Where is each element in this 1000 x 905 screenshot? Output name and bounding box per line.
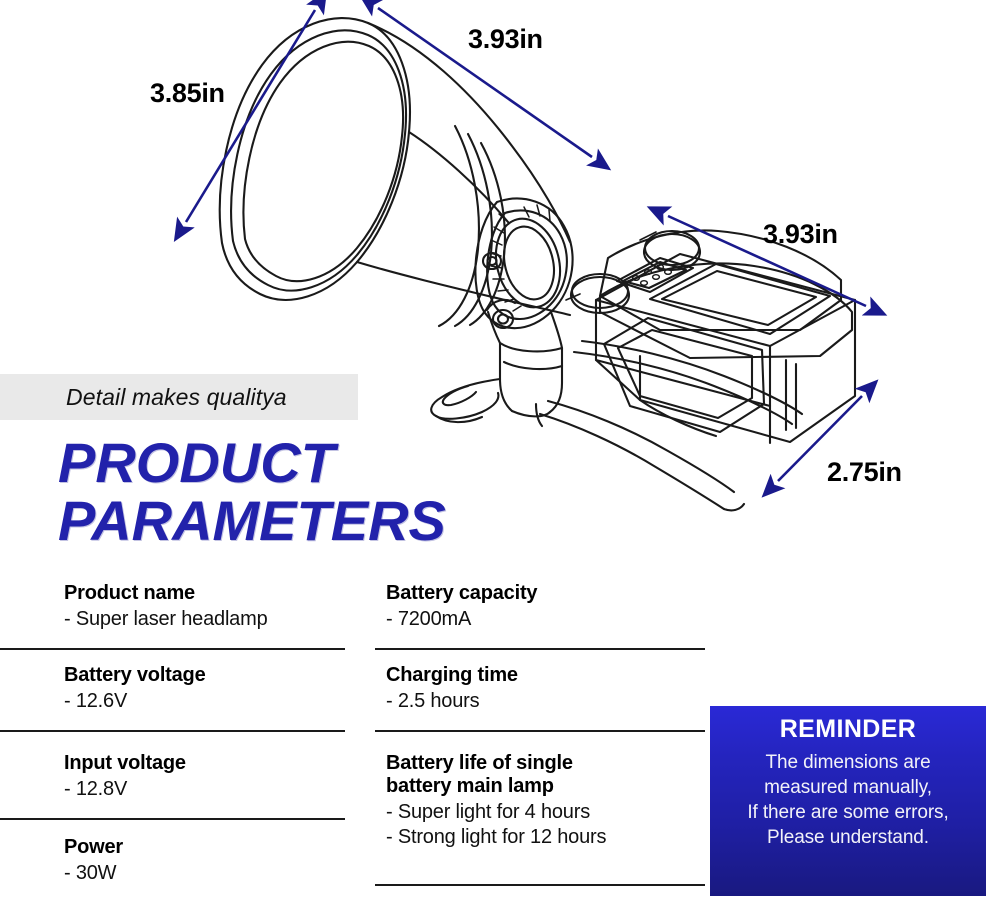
pivot-bolt <box>493 310 513 328</box>
reflector-front-rim <box>220 18 410 300</box>
spec-divider <box>0 648 345 650</box>
spec-value-battery-voltage: - 12.6V <box>64 689 345 713</box>
spec-value-charging-time: - 2.5 hours <box>386 689 705 713</box>
reminder-title: REMINDER <box>718 716 978 744</box>
spec-row-battery-voltage: Battery voltage - 12.6V <box>0 664 345 714</box>
page-title: PRODUCT PARAMETERS <box>58 436 678 549</box>
tagline-text: Detail makes qualitya <box>0 384 287 411</box>
spec-label-battery-capacity: Battery capacity <box>386 582 705 605</box>
spec-divider <box>0 730 345 732</box>
control-button-upper <box>644 231 700 270</box>
spec-label-power: Power <box>64 836 345 859</box>
spec-value-power: - 30W <box>64 861 345 885</box>
spec-divider <box>375 884 705 886</box>
spec-label-battery-life-line-1: Battery life of single <box>386 752 705 775</box>
reminder-line-2: measured manually, <box>718 775 978 800</box>
spec-row-battery-capacity: Battery capacity - 7200mA <box>375 582 705 632</box>
spec-divider <box>0 818 345 820</box>
reminder-line-4: Please understand. <box>718 825 978 850</box>
spec-label-input-voltage: Input voltage <box>64 752 345 775</box>
dimension-label-cone-height: 3.85in <box>150 78 225 109</box>
mount-base-plate <box>431 379 500 422</box>
page-title-line-1: PRODUCT <box>58 436 678 491</box>
spec-row-charging-time: Charging time - 2.5 hours <box>375 664 705 714</box>
spec-divider <box>375 648 705 650</box>
spec-row-battery-life: Battery life of single battery main lamp… <box>375 752 705 849</box>
spec-value-battery-capacity: - 7200mA <box>386 607 705 631</box>
dimension-label-cone-length: 3.93in <box>468 24 543 55</box>
spec-label-battery-life-line-2: battery main lamp <box>386 775 705 798</box>
reminder-box: REMINDER The dimensions are measured man… <box>710 706 986 896</box>
lamp-lens <box>497 221 561 304</box>
spec-divider <box>375 730 705 732</box>
dimension-label-pack-length: 3.93in <box>763 219 838 250</box>
spec-value-battery-life-strong: - Strong light for 12 hours <box>386 825 705 849</box>
tagline-banner: Detail makes qualitya <box>0 374 358 420</box>
spec-label-product-name: Product name <box>64 582 345 605</box>
reminder-line-3: If there are some errors, <box>718 800 978 825</box>
spec-value-input-voltage: - 12.8V <box>64 777 345 801</box>
spec-row-input-voltage: Input voltage - 12.8V <box>0 752 345 802</box>
spec-value-product-name: - Super laser headlamp <box>64 607 345 631</box>
page-title-line-2: PARAMETERS <box>58 494 678 549</box>
spec-value-battery-life-super: - Super light for 4 hours <box>386 800 705 824</box>
reflector-mid-ring <box>439 126 505 326</box>
dimension-arrow-cone-height <box>186 10 315 222</box>
spec-row-product-name: Product name - Super laser headlamp <box>0 582 345 632</box>
spec-label-charging-time: Charging time <box>386 664 705 687</box>
reminder-line-1: The dimensions are <box>718 750 978 775</box>
spec-label-battery-voltage: Battery voltage <box>64 664 345 687</box>
dimension-label-pack-depth: 2.75in <box>827 457 902 488</box>
spec-row-power: Power - 30W <box>0 836 345 886</box>
